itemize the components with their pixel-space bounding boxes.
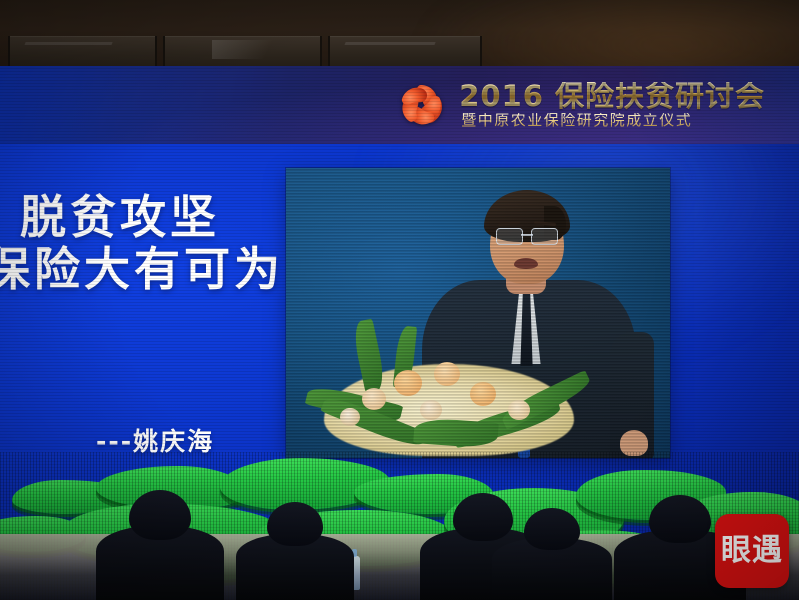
ceiling-panel <box>8 36 157 70</box>
audience-silhouette <box>96 526 224 600</box>
bloom <box>362 388 386 410</box>
watermark-badge: 眼遇 <box>715 514 789 588</box>
foreground-audience <box>0 496 799 600</box>
pinwheel-flower-logo-icon <box>397 81 445 129</box>
ceiling-panel <box>163 36 322 70</box>
live-video-feed-panel <box>286 168 670 458</box>
audience-head <box>129 490 191 540</box>
audience-head <box>267 502 323 546</box>
conference-title-group: 2016 保险扶贫研讨会 暨中原农业保险研究院成立仪式 <box>459 82 765 128</box>
slide-headline-line2: 保险大有可为 <box>0 244 284 296</box>
audience-head <box>649 495 711 543</box>
audience-head <box>524 508 580 550</box>
bloom <box>508 400 530 420</box>
bloom <box>470 382 496 406</box>
audience-silhouette <box>236 534 354 600</box>
panel-reflection <box>344 42 435 45</box>
bloom <box>340 408 360 426</box>
screenshot-stage: 2016 保险扶贫研讨会 暨中原农业保险研究院成立仪式 脱贫攻坚 保险大有可为 … <box>0 0 799 600</box>
bloom <box>434 362 460 386</box>
speaker-mouth <box>514 258 538 269</box>
slide-headline-line1: 脱贫攻坚 <box>0 192 284 244</box>
conference-title-main: 2016 保险扶贫研讨会 <box>459 82 765 111</box>
audience-head <box>453 493 513 541</box>
conference-header-band: 2016 保险扶贫研讨会 暨中原农业保险研究院成立仪式 <box>0 66 799 144</box>
panel-reflection <box>24 42 112 45</box>
conference-branding: 2016 保险扶贫研讨会 暨中原农业保险研究院成立仪式 <box>397 81 765 129</box>
speaker-glasses-icon <box>496 228 558 243</box>
slide-headline: 脱贫攻坚 保险大有可为 <box>0 192 284 295</box>
conference-title-sub: 暨中原农业保险研究院成立仪式 <box>459 113 692 128</box>
audience-silhouette <box>492 538 612 600</box>
ceiling-panel <box>328 36 482 70</box>
watermark-text: 眼遇 <box>721 536 783 566</box>
panel-reflection <box>212 40 297 59</box>
bloom <box>394 370 422 396</box>
flower-arrangement <box>302 316 602 458</box>
bloom <box>420 400 442 420</box>
